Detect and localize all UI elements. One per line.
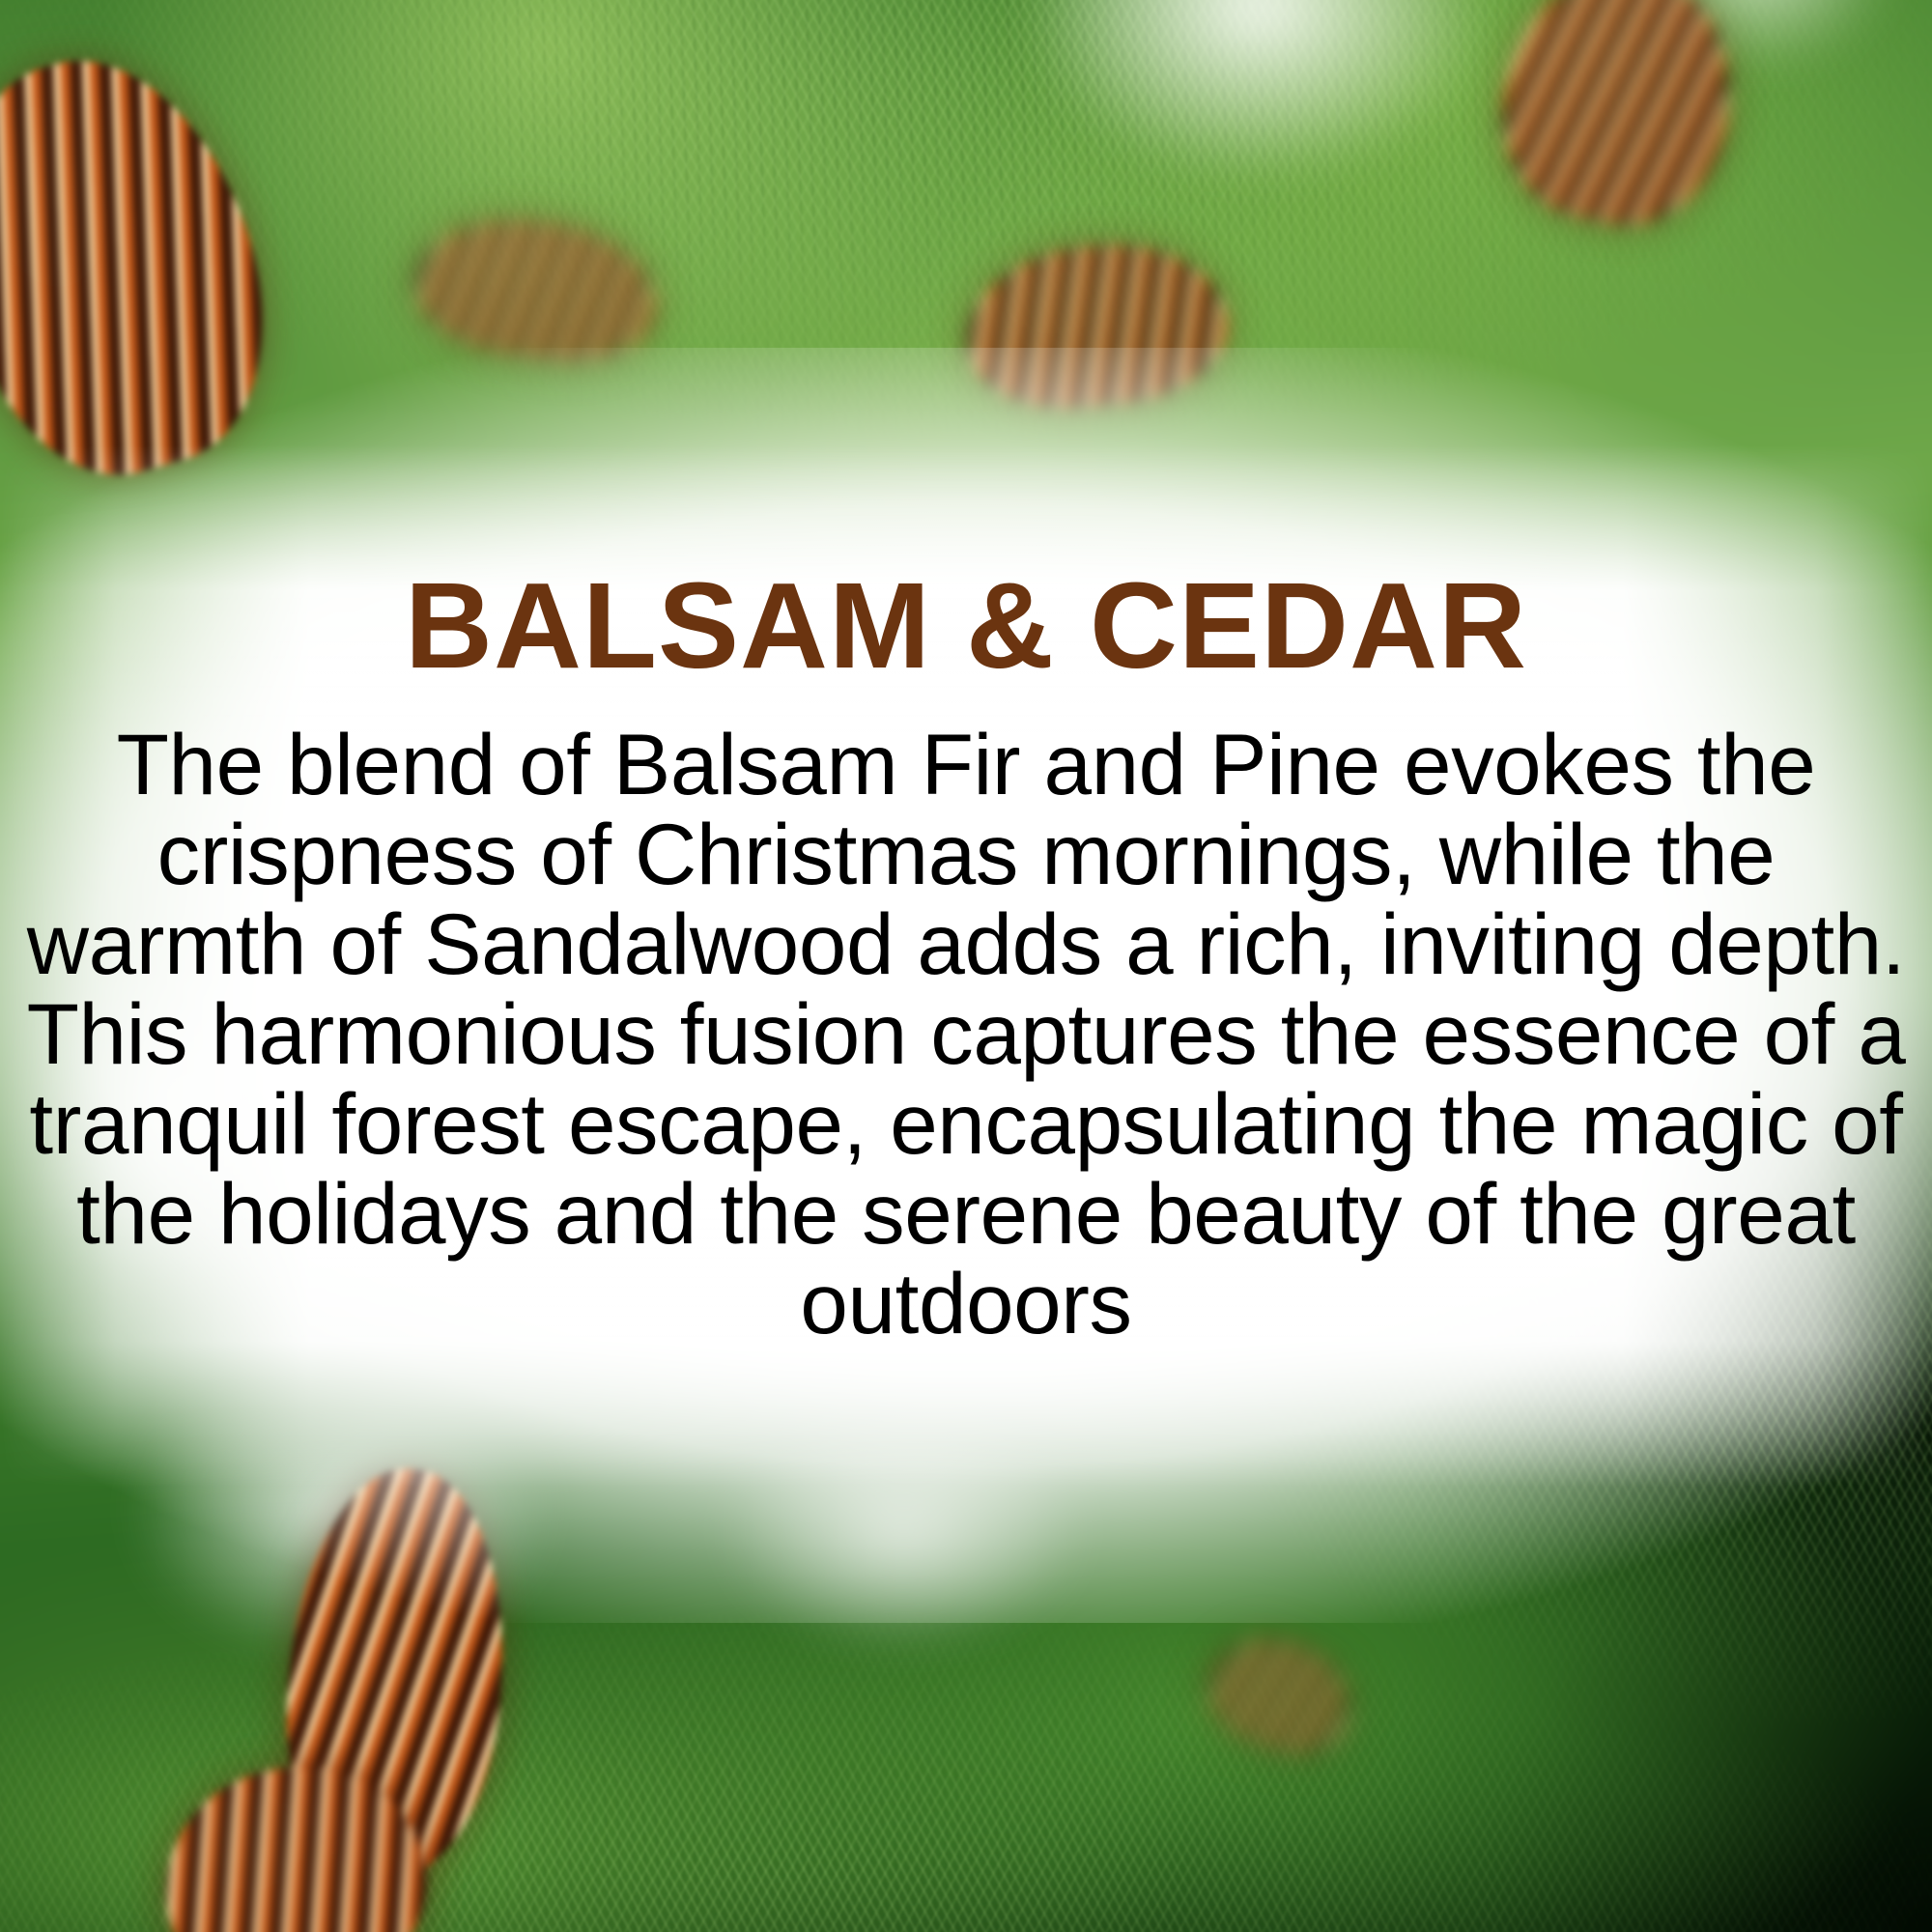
product-card: BALSAM & CEDAR The blend of Balsam Fir a… (0, 0, 1932, 1932)
page-title: BALSAM & CEDAR (0, 562, 1932, 690)
product-description: The blend of Balsam Fir and Pine evokes … (14, 720, 1918, 1349)
card-content: BALSAM & CEDAR The blend of Balsam Fir a… (0, 0, 1932, 1932)
